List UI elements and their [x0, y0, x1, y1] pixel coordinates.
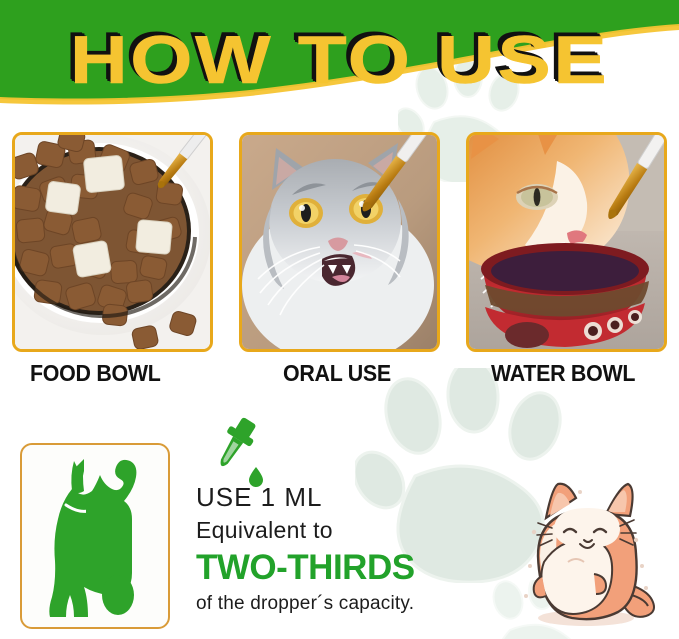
caption-water-bowl: WATER BOWL [491, 360, 635, 387]
photo-orange-cat-drinking-from-red-bowl-with-dropper [469, 135, 664, 349]
cat-silhouette-box [20, 443, 170, 629]
dosage-line-use-1-ml: USE 1 ML [196, 480, 496, 514]
caption-food-bowl: FOOD BOWL [30, 360, 161, 387]
dosage-line-two-thirds: TWO-THIRDS [196, 546, 496, 590]
green-sitting-cat-silhouette [22, 445, 168, 627]
photo-food-bowl-with-kibble-and-dropper [15, 135, 210, 349]
green-dropper-icon [206, 415, 272, 487]
dosage-line-equivalent: Equivalent to [196, 514, 496, 546]
dosage-line-capacity: of the dropper´s capacity. [196, 590, 496, 618]
usage-card-oral-use[interactable] [239, 132, 440, 352]
how-to-use-infographic: HOW TO USE [0, 0, 679, 639]
caption-oral-use: ORAL USE [283, 360, 391, 387]
photo-grey-cat-open-mouth-with-dropper [242, 135, 437, 349]
usage-card-food-bowl[interactable] [12, 132, 213, 352]
usage-caption-row: FOOD BOWL ORAL USE WATER BOWL [0, 360, 679, 390]
page-title: HOW TO USE [0, 26, 679, 94]
usage-photo-row [0, 132, 679, 357]
dosage-text-block: USE 1 ML Equivalent to TWO-THIRDS of the… [196, 480, 496, 618]
usage-card-water-bowl[interactable] [466, 132, 667, 352]
chubby-orange-cartoon-cat [508, 470, 668, 630]
